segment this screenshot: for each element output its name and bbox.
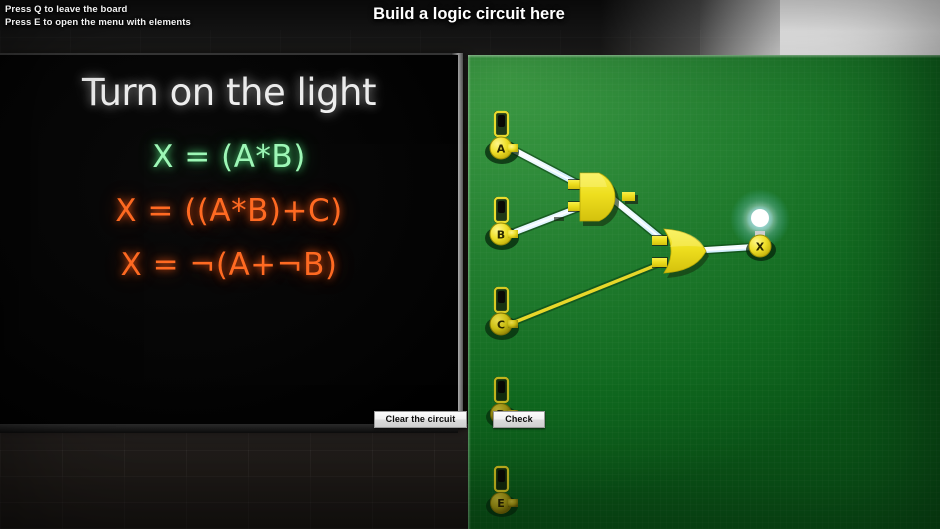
game-screen: Press Q to leave the board Press E to op… bbox=[0, 0, 940, 529]
blackboard-title: Turn on the light bbox=[0, 71, 458, 114]
input-label-b: B bbox=[497, 229, 505, 242]
blackboard: Turn on the light X = (A*B) X = ((A*B)+C… bbox=[0, 55, 458, 424]
input-switch-c[interactable]: C bbox=[485, 287, 519, 340]
input-label-c: C bbox=[497, 319, 505, 332]
task-formula-completed: X = (A*B) bbox=[0, 139, 458, 175]
input-switch-e[interactable]: E bbox=[486, 466, 518, 517]
page-title-text: Build a logic circuit here bbox=[373, 5, 565, 24]
or-gate[interactable] bbox=[652, 229, 709, 278]
check-button[interactable]: Check bbox=[493, 411, 545, 428]
page-title: Build a logic circuit here bbox=[0, 5, 940, 24]
task-formula-pending-1: X = ((A*B)+C) bbox=[0, 193, 458, 229]
input-switch-b[interactable]: B bbox=[485, 197, 519, 250]
wall-bricks bbox=[0, 424, 470, 529]
input-label-a: A bbox=[497, 143, 506, 156]
input-label-e: E bbox=[497, 497, 505, 510]
circuit-diagram: A B C bbox=[468, 55, 940, 529]
circuit-board-panel[interactable]: A B C bbox=[468, 55, 940, 529]
input-switch-a[interactable]: A bbox=[485, 111, 519, 164]
task-formula-pending-2: X = ¬(A+¬B) bbox=[0, 247, 458, 283]
wall-bricks-course bbox=[0, 450, 470, 476]
clear-circuit-button[interactable]: Clear the circuit bbox=[374, 411, 467, 428]
output-label-x: X bbox=[756, 241, 765, 254]
wire-c-to-or bbox=[510, 262, 664, 324]
